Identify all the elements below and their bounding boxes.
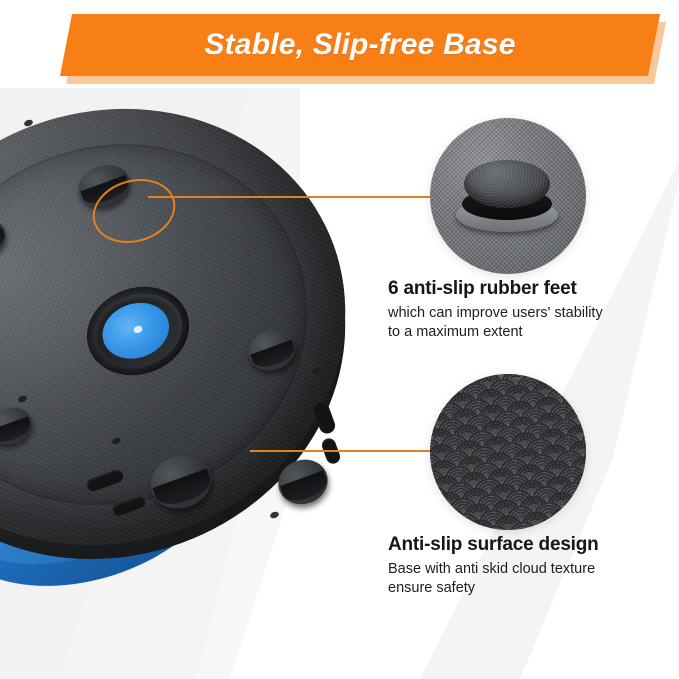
screw-hole xyxy=(269,511,280,520)
callout-body-line-1: Base with anti skid cloud texture xyxy=(388,560,668,579)
callout-rubber-foot: 6 anti-slip rubber feet which can improv… xyxy=(388,278,668,342)
callout-cloud-texture: Anti-slip surface design Base with anti … xyxy=(388,534,668,598)
cloud-texture-pattern xyxy=(430,374,586,530)
header-banner: Stable, Slip-free Base xyxy=(0,0,679,92)
callout-body-line-2: ensure safety xyxy=(388,579,668,598)
rubber-foot-closeup-photo xyxy=(430,118,586,274)
leader-line-cloud-texture xyxy=(250,450,432,452)
callout-heading: 6 anti-slip rubber feet xyxy=(388,278,668,300)
callout-body: Base with anti skid cloud texture ensure… xyxy=(388,560,668,598)
banner-title: Stable, Slip-free Base xyxy=(66,14,654,76)
cloud-texture-closeup-photo xyxy=(430,374,586,530)
product-image xyxy=(0,108,410,628)
callout-body: which can improve users' stability to a … xyxy=(388,304,668,342)
callout-body-line-2: to a maximum extent xyxy=(388,323,668,342)
rubber-foot-grain xyxy=(464,160,550,208)
rubber-foot-closeup xyxy=(460,158,554,232)
callout-body-line-1: which can improve users' stability xyxy=(388,304,668,323)
leader-line-rubber-foot xyxy=(148,196,430,198)
callout-heading: Anti-slip surface design xyxy=(388,534,668,556)
product-feature-graphic: Stable, Slip-free Base xyxy=(0,0,679,679)
